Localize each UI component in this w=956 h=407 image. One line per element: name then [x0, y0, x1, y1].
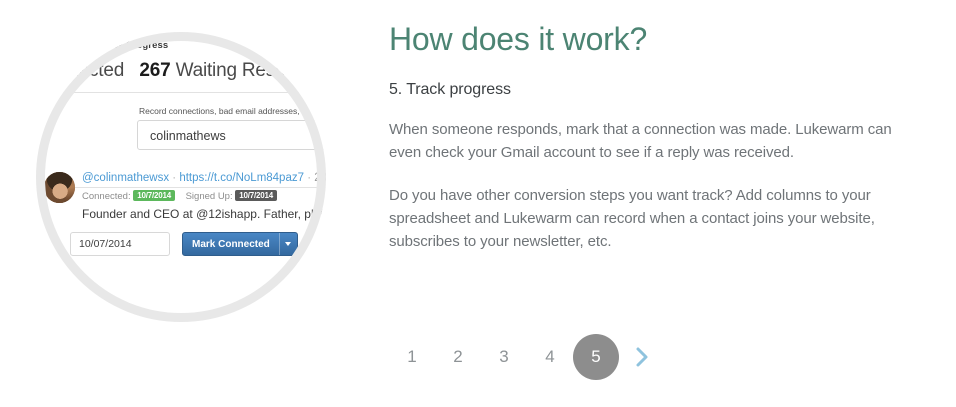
- contact-handle-line: @colinmathewsx · https://t.co/NoLm84paz7…: [82, 172, 326, 184]
- tab-connected[interactable]: Connected: [36, 60, 124, 81]
- page-title: How does it work?: [389, 0, 929, 57]
- pagination-page-5-active[interactable]: 5: [573, 334, 619, 380]
- pagination-page-1[interactable]: 1: [389, 334, 435, 380]
- contact-status-line: Connected: 10/7/2014 Signed Up: 10/7/201…: [82, 190, 277, 202]
- divider-middle: [36, 187, 326, 188]
- contact-website-link[interactable]: https://t.co/NoLm84paz7: [179, 172, 304, 184]
- connected-label: Connected:: [82, 191, 131, 202]
- chevron-right-icon: [635, 346, 650, 368]
- pagination-page-4[interactable]: 4: [527, 334, 573, 380]
- pagination: 1 2 3 4 5: [389, 334, 665, 380]
- pagination-page-3[interactable]: 3: [481, 334, 527, 380]
- product-screenshot-vignette: …mailer: Track Progress Connected 267 Wa…: [36, 32, 326, 322]
- waiting-count-badge: 267: [139, 60, 170, 81]
- app-screenshot-mock: …mailer: Track Progress Connected 267 Wa…: [36, 32, 326, 322]
- breadcrumb: …mailer: Track Progress: [54, 40, 168, 51]
- copy-column: How does it work? 5. Track progress When…: [389, 0, 929, 253]
- tab-waiting-responses[interactable]: Waiting Respons: [176, 60, 316, 81]
- avatar-photo: [44, 172, 75, 203]
- connection-date-input[interactable]: 10/07/2014: [70, 232, 170, 256]
- avatar: [44, 172, 75, 203]
- connected-date-badge: 10/7/2014: [133, 190, 175, 201]
- signed-up-label: Signed Up:: [186, 191, 233, 202]
- contact-handle[interactable]: @colinmathewsx: [82, 172, 169, 184]
- search-input-value: colinmathews: [150, 129, 226, 143]
- pagination-next-button[interactable]: [619, 334, 665, 380]
- tab-bar: Connected 267 Waiting Respons: [36, 60, 315, 82]
- body-paragraph-1: When someone responds, mark that a conne…: [389, 99, 917, 165]
- pagination-page-2[interactable]: 2: [435, 334, 481, 380]
- contact-bio: Founder and CEO at @12ishapp. Father, ph…: [82, 207, 326, 221]
- body-paragraph-2: Do you have other conversion steps you w…: [389, 165, 917, 254]
- separator-dot-1: ·: [172, 172, 176, 184]
- vignette-clip-mask: …mailer: Track Progress Connected 267 Wa…: [36, 32, 326, 322]
- mark-connected-button[interactable]: Mark Connected: [182, 232, 298, 256]
- separator-dot-2: ·: [307, 172, 311, 184]
- chevron-down-icon: [285, 242, 291, 246]
- mark-connected-dropdown-toggle[interactable]: [279, 233, 297, 255]
- hint-text: Record connections, bad email addresses,…: [139, 106, 307, 116]
- search-input[interactable]: colinmathews: [137, 120, 326, 150]
- signed-up-date-badge: 10/7/2014: [235, 190, 277, 201]
- divider-top: [36, 92, 326, 93]
- step-subheading: 5. Track progress: [389, 57, 929, 99]
- mark-connected-label: Mark Connected: [183, 239, 279, 250]
- connection-date-value: 10/07/2014: [79, 238, 132, 250]
- follower-count: 28.2K f: [314, 172, 326, 184]
